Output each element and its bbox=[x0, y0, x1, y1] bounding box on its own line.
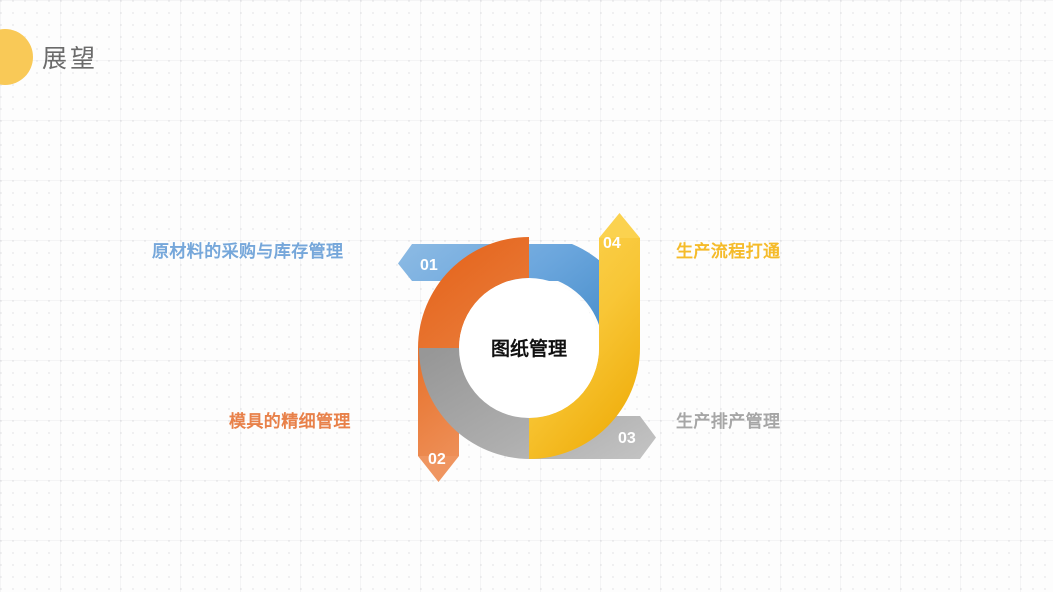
caption-segment-03: 生产排产管理 bbox=[676, 407, 780, 432]
cycle-segment-02-number: 02 bbox=[428, 451, 446, 468]
cycle-diagram: 01 02 03 04 图纸管理 bbox=[0, 0, 1053, 592]
cycle-segment-03-number: 03 bbox=[618, 430, 636, 447]
slide-canvas: 展望 bbox=[0, 0, 1053, 592]
caption-segment-01: 原材料的采购与库存管理 bbox=[152, 237, 343, 262]
center-label: 图纸管理 bbox=[491, 337, 567, 360]
caption-segment-04: 生产流程打通 bbox=[676, 237, 780, 262]
cycle-segment-01-number: 01 bbox=[420, 257, 438, 274]
caption-segment-02: 模具的精细管理 bbox=[229, 407, 351, 432]
cycle-segment-04-number: 04 bbox=[603, 235, 621, 252]
